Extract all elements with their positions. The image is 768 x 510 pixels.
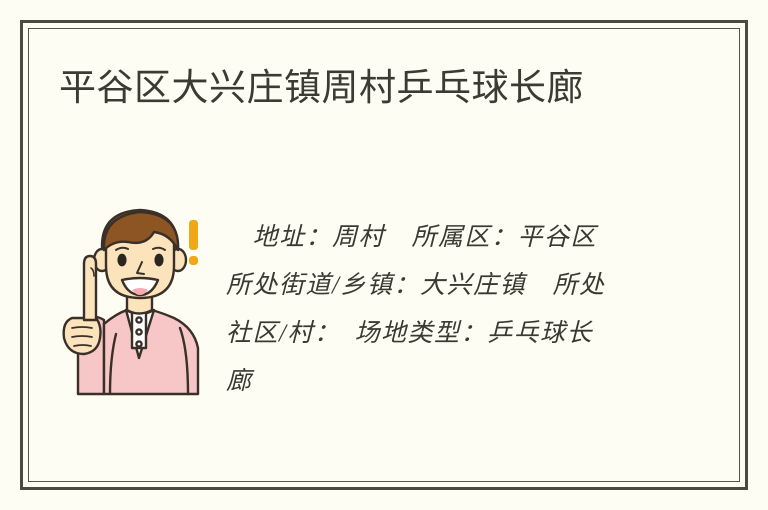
knuckle-line-3 xyxy=(74,345,91,346)
knuckle-line-1 xyxy=(72,327,92,328)
exclamation-mark-icon xyxy=(189,220,198,265)
eye-right xyxy=(154,254,163,267)
shirt-button-1 xyxy=(136,317,141,322)
poster-page: 平谷区大兴庄镇周村乒乓球长廊 xyxy=(0,0,768,510)
venue-details-text: 地址：周村 所属区：平谷区 所处街道/乡镇：大兴庄镇 所处社区/村： 场地类型：… xyxy=(226,214,618,406)
eye-left xyxy=(117,254,126,267)
pointing-man-illustration xyxy=(58,198,218,396)
pointing-man-graphic xyxy=(58,198,218,396)
shirt-button-2 xyxy=(136,329,141,334)
shirt-button-3 xyxy=(136,341,141,346)
page-title: 平谷区大兴庄镇周村乒乓球长廊 xyxy=(59,64,584,112)
knuckle-line-2 xyxy=(72,336,92,337)
index-finger xyxy=(84,256,96,320)
